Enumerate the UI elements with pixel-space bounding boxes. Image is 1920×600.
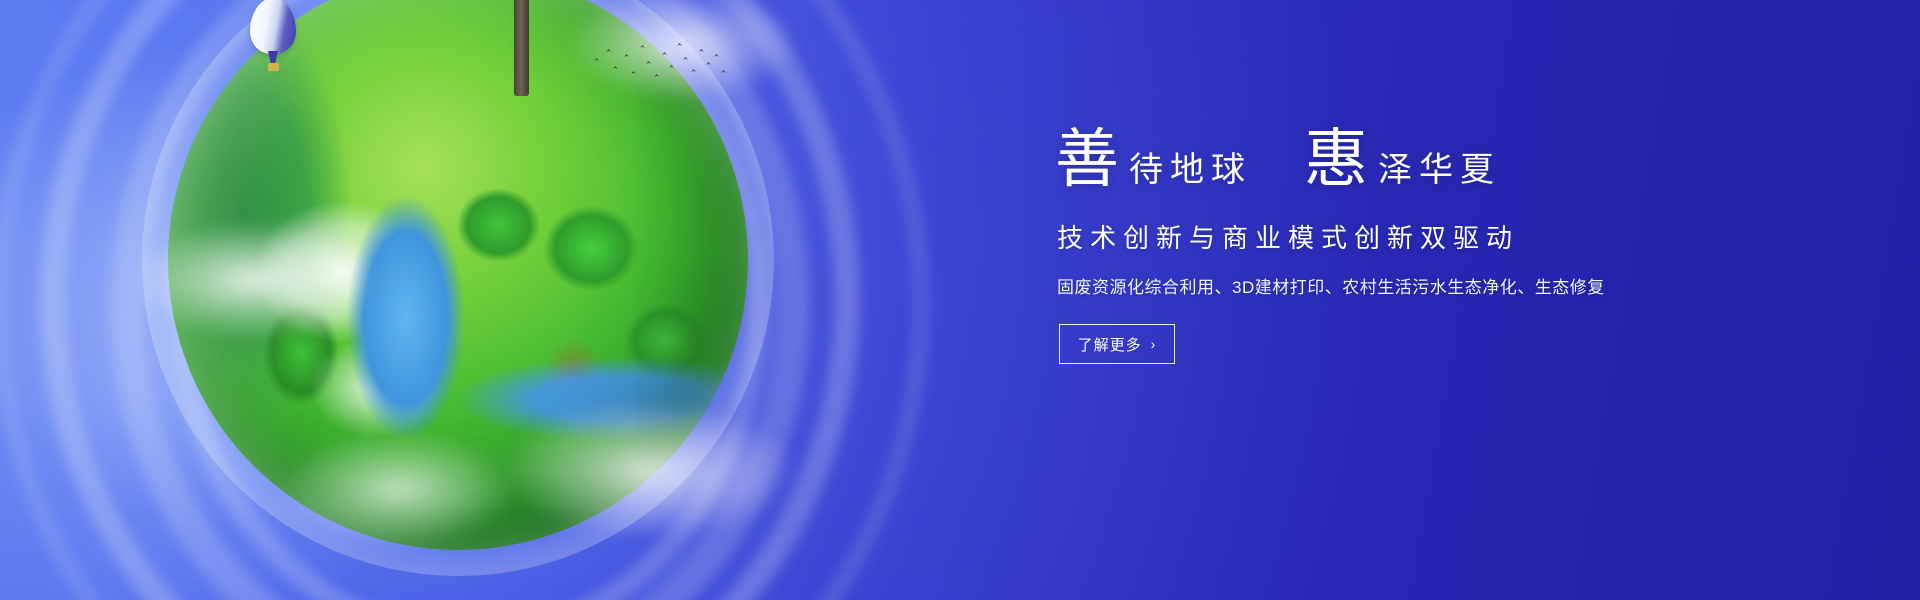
chevron-right-icon: ›	[1151, 336, 1157, 352]
headline-group-2: 泽华夏	[1378, 154, 1501, 188]
hero-description: 固废资源化综合利用、3D建材打印、农村生活污水生态净化、生态修复	[1057, 273, 1695, 298]
hot-air-balloon-icon	[250, 0, 296, 76]
headline-group-1: 待地球	[1129, 154, 1252, 188]
balloon-basket	[268, 63, 279, 71]
headline-char-2: 惠	[1304, 128, 1368, 192]
learn-more-label: 了解更多	[1078, 334, 1142, 355]
hero-banner: 善 待地球 惠 泽华夏 技术创新与商业模式创新双驱动 固废资源化综合利用、3D建…	[0, 0, 1920, 600]
hero-subtitle: 技术创新与商业模式创新双驱动	[1057, 218, 1695, 255]
headline-char-1: 善	[1055, 128, 1119, 192]
page-title: 善 待地球 惠 泽华夏	[1055, 128, 1695, 192]
learn-more-button[interactable]: 了解更多 ›	[1059, 324, 1175, 364]
tree-trunk	[514, 0, 529, 96]
bird-flock-icon	[590, 40, 730, 90]
balloon-envelope	[250, 0, 296, 54]
hero-content: 善 待地球 惠 泽华夏 技术创新与商业模式创新双驱动 固废资源化综合利用、3D建…	[1055, 128, 1695, 364]
balloon-neck	[268, 51, 278, 63]
